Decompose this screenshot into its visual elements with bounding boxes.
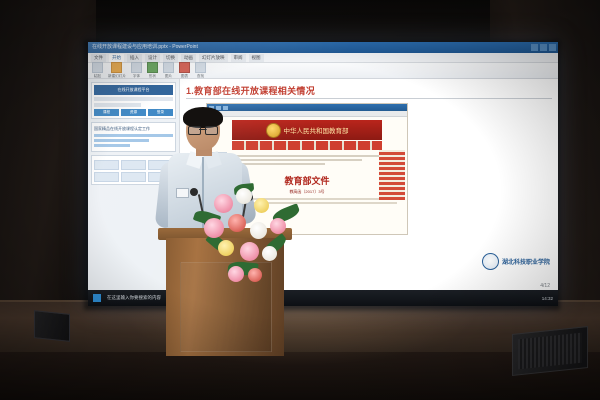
flower-bloom	[214, 194, 233, 213]
flower-bloom	[254, 198, 269, 213]
flower-bloom	[228, 214, 246, 232]
new-slide-icon[interactable]	[111, 62, 122, 73]
ribbon-group-paste[interactable]: 粘贴	[92, 62, 103, 79]
notice-bar	[94, 144, 130, 147]
window-controls[interactable]	[531, 44, 556, 51]
ribbon-group-chart[interactable]: 图表	[179, 62, 190, 79]
tab-transitions[interactable]: 切换	[163, 54, 178, 62]
speaker-grille	[518, 333, 582, 370]
list-item[interactable]	[121, 160, 146, 170]
close-icon[interactable]	[549, 44, 556, 51]
left-wall	[0, 0, 96, 300]
home-icon	[223, 106, 228, 110]
ribbon-group-find[interactable]: 查找	[195, 62, 206, 79]
slide-page-number: 4/12	[540, 283, 550, 289]
resources-button[interactable]: 资源	[121, 109, 146, 116]
flower-bloom	[228, 266, 244, 282]
school-logo: 湖北科技职业学院	[482, 253, 550, 270]
flower-bloom	[270, 218, 286, 234]
tab-file[interactable]: 文件	[91, 54, 106, 62]
glasses-lens-right	[205, 126, 218, 135]
slide-title: 1.教育部在线开放课程相关情况	[186, 84, 552, 97]
ribbon-toolbar[interactable]: 粘贴 新建幻灯片 字体 形状 图片 图表	[88, 63, 558, 79]
platform-card-header: 在线开放课程平台	[94, 85, 173, 95]
flower-bloom	[262, 246, 277, 261]
flower-bloom	[204, 218, 224, 238]
font-icon[interactable]	[131, 62, 142, 73]
course-button[interactable]: 课程	[94, 109, 119, 116]
school-name: 湖北科技职业学院	[502, 257, 550, 266]
school-seal-icon	[482, 253, 499, 270]
flower-bloom	[236, 188, 252, 204]
list-item[interactable]	[94, 160, 119, 170]
paste-icon[interactable]	[92, 62, 103, 73]
tab-home[interactable]: 开始	[109, 54, 124, 62]
moe-header-title: 中华人民共和国教育部	[284, 125, 349, 135]
floral-arrangement	[188, 178, 308, 298]
minimize-icon[interactable]	[531, 44, 538, 51]
flower-bloom	[240, 242, 259, 261]
glasses-icon	[188, 126, 218, 133]
ribbon-group-picture[interactable]: 图片	[163, 62, 174, 79]
ribbon-group-font[interactable]: 字体	[131, 62, 142, 79]
list-item[interactable]	[121, 172, 146, 182]
tab-design[interactable]: 设计	[145, 54, 160, 62]
chart-icon[interactable]	[179, 62, 190, 73]
hair	[183, 107, 223, 128]
platform-card-line	[94, 103, 141, 107]
ribbon-group-shapes[interactable]: 形状	[147, 62, 158, 79]
tab-insert[interactable]: 插入	[127, 54, 142, 62]
picture-icon[interactable]	[163, 62, 174, 73]
taskbar-clock[interactable]: 14:32	[542, 296, 553, 301]
document-side-banner	[379, 150, 405, 200]
start-icon[interactable]	[93, 294, 101, 302]
flower-bloom	[218, 240, 234, 256]
shapes-icon[interactable]	[147, 62, 158, 73]
ribbon-tab-strip[interactable]: 文件 开始 插入 设计 切换 动画 幻灯片放映 审阅 视图	[88, 53, 558, 63]
tab-review[interactable]: 审阅	[231, 54, 246, 62]
stage-loudspeaker-left	[34, 310, 70, 342]
window-title-bar: 在线开放课程建设与应用培训.pptx - PowerPoint	[88, 42, 558, 53]
maximize-icon[interactable]	[540, 44, 547, 51]
tab-animations[interactable]: 动画	[181, 54, 196, 62]
stage-loudspeaker-right	[512, 326, 588, 376]
auditorium-photo: 在线开放课程建设与应用培训.pptx - PowerPoint 文件 开始 插入…	[0, 0, 600, 400]
glasses-lens-left	[188, 126, 201, 135]
ribbon-group-new-slide[interactable]: 新建幻灯片	[108, 62, 126, 79]
notice-bar	[94, 139, 149, 142]
flower-bloom	[250, 222, 267, 239]
flower-bloom	[248, 268, 262, 282]
tab-view[interactable]: 视图	[249, 54, 264, 62]
search-icon[interactable]	[195, 62, 206, 73]
platform-card-line	[94, 97, 173, 101]
tab-slideshow[interactable]: 幻灯片放映	[199, 54, 228, 62]
list-item[interactable]	[94, 172, 119, 182]
slide-title-divider	[186, 98, 552, 99]
window-title: 在线开放课程建设与应用培训.pptx - PowerPoint	[92, 42, 198, 53]
